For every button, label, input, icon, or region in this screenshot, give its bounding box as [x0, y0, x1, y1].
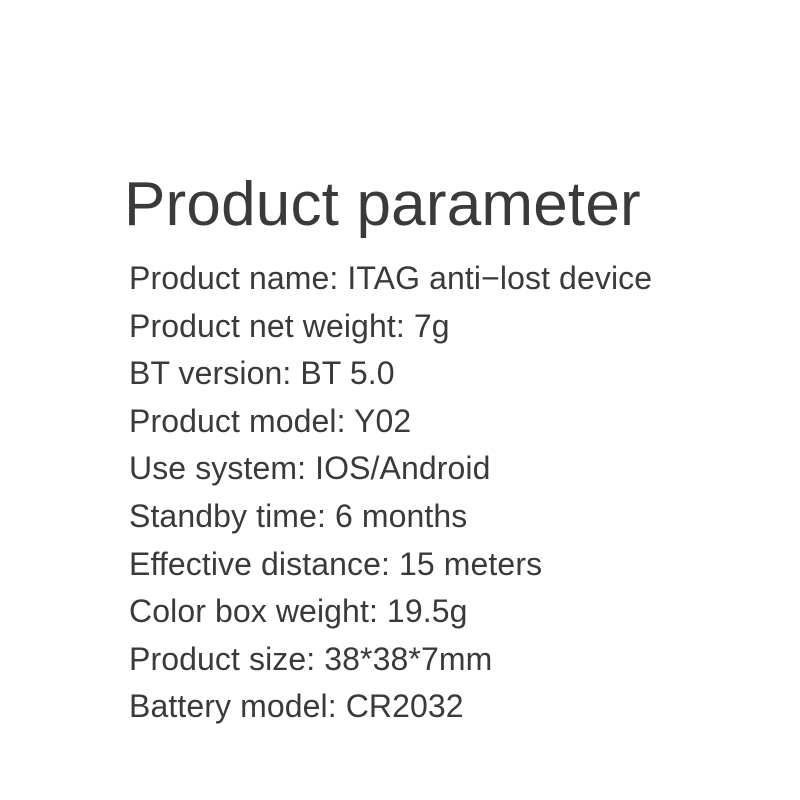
- spec-row-product-model: Product model: Y02: [129, 398, 729, 446]
- product-spec-sheet: Product parameter Product name: ITAG ant…: [0, 0, 800, 800]
- spec-row-effective-distance: Effective distance: 15 meters: [129, 541, 729, 589]
- spec-row-product-size: Product size: 38*38*7mm: [129, 636, 729, 684]
- spec-row-standby-time: Standby time: 6 months: [129, 493, 729, 541]
- spec-row-bt-version: BT version: BT 5.0: [129, 350, 729, 398]
- page-title: Product parameter: [124, 169, 641, 241]
- spec-row-product-name: Product name: ITAG anti−lost device: [129, 255, 729, 303]
- product-parameter-page: Product parameter Product name: ITAG ant…: [0, 0, 800, 800]
- spec-row-battery-model: Battery model: CR2032: [129, 683, 729, 731]
- spec-list: Product name: ITAG anti−lost device Prod…: [129, 255, 729, 731]
- spec-row-product-net-weight: Product net weight: 7g: [129, 303, 729, 351]
- spec-row-color-box-weight: Color box weight: 19.5g: [129, 588, 729, 636]
- spec-row-use-system: Use system: IOS/Android: [129, 445, 729, 493]
